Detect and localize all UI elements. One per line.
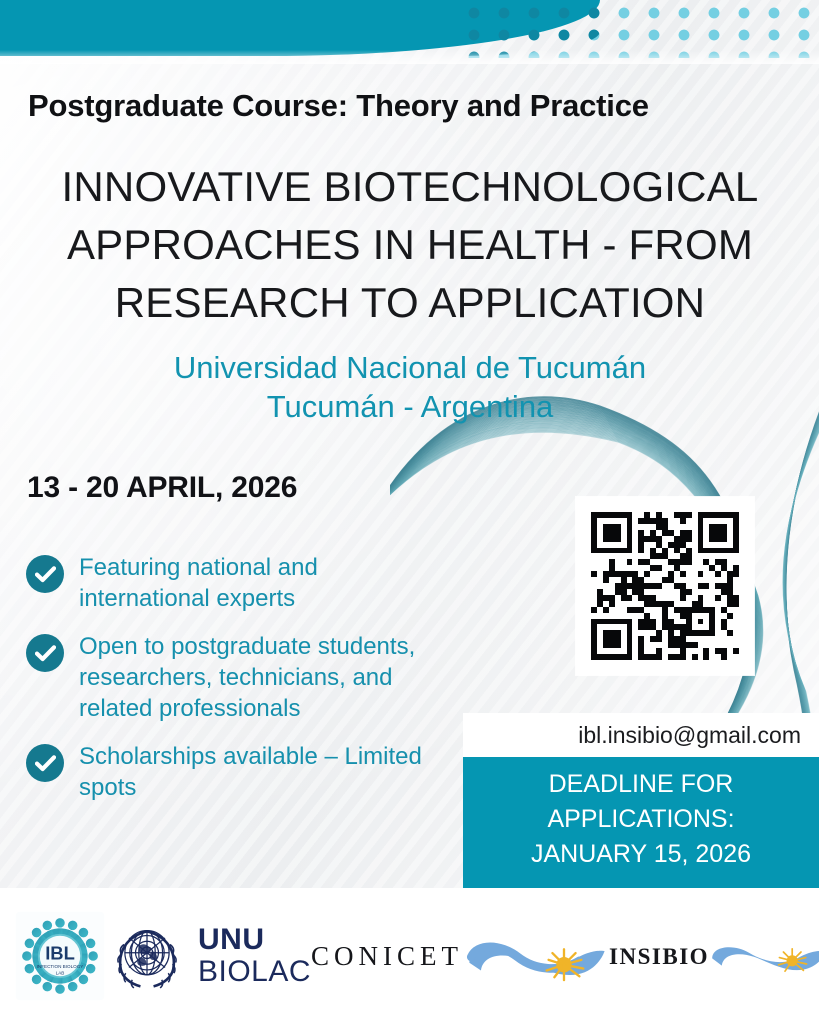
header-fade [0, 50, 819, 64]
deadline-banner: DEADLINE FOR APPLICATIONS: JANUARY 15, 2… [463, 757, 819, 888]
check-circle-icon [26, 555, 64, 593]
highlights-list: Featuring national and international exp… [26, 552, 446, 820]
venue-line-1: Universidad Nacional de Tucumán [24, 348, 796, 387]
deadline-line-1: DEADLINE FOR [463, 767, 819, 802]
ibl-logo-secondary-2: LAB [56, 970, 65, 975]
list-item: Scholarships available – Limited spots [26, 741, 446, 803]
unu-biolac-line-1: UNU [198, 925, 311, 955]
list-item-label: Scholarships available – Limited spots [79, 741, 446, 803]
unu-biolac-logo: UNU BIOLAC [106, 915, 311, 997]
contact-email[interactable]: ibl.insibio@gmail.com [463, 713, 819, 757]
ibl-logo-primary: IBL [45, 943, 75, 964]
list-item: Featuring national and international exp… [26, 552, 446, 614]
insibio-line-1: INSIBIO [609, 945, 709, 968]
ibl-logo: IBL INFECTION BIOLOGY LAB [14, 908, 106, 1004]
deadline-line-3: JANUARY 15, 2026 [463, 837, 819, 872]
course-kicker: Postgraduate Course: Theory and Practice [28, 88, 798, 124]
qr-code-panel[interactable] [576, 497, 754, 675]
event-dates: 13 - 20 APRIL, 2026 [27, 471, 297, 505]
unu-biolac-line-2: BIOLAC [198, 957, 311, 987]
list-item-label: Open to postgraduate students, researche… [79, 631, 446, 724]
venue-line-2: Tucumán - Argentina [24, 387, 796, 426]
ibl-logo-secondary-1: INFECTION BIOLOGY [37, 964, 84, 969]
conicet-logo: CONICET [311, 928, 609, 984]
list-item-label: Featuring national and international exp… [79, 552, 446, 614]
sponsor-logos-bar: IBL INFECTION BIOLOGY LAB [0, 888, 819, 1024]
deadline-line-2: APPLICATIONS: [463, 802, 819, 837]
qr-code-icon[interactable] [591, 512, 739, 660]
list-item: Open to postgraduate students, researche… [26, 631, 446, 724]
page-title: INNOVATIVE BIOTECHNOLOGICAL APPROACHES I… [24, 158, 796, 332]
insibio-conicet-unt-logo: INSIBIO [609, 936, 819, 976]
venue-block: Universidad Nacional de Tucumán Tucumán … [24, 348, 796, 426]
check-circle-icon [26, 744, 64, 782]
conicet-wordmark: CONICET [311, 941, 463, 972]
poster-canvas: Postgraduate Course: Theory and Practice… [0, 0, 819, 1024]
check-circle-icon [26, 634, 64, 672]
